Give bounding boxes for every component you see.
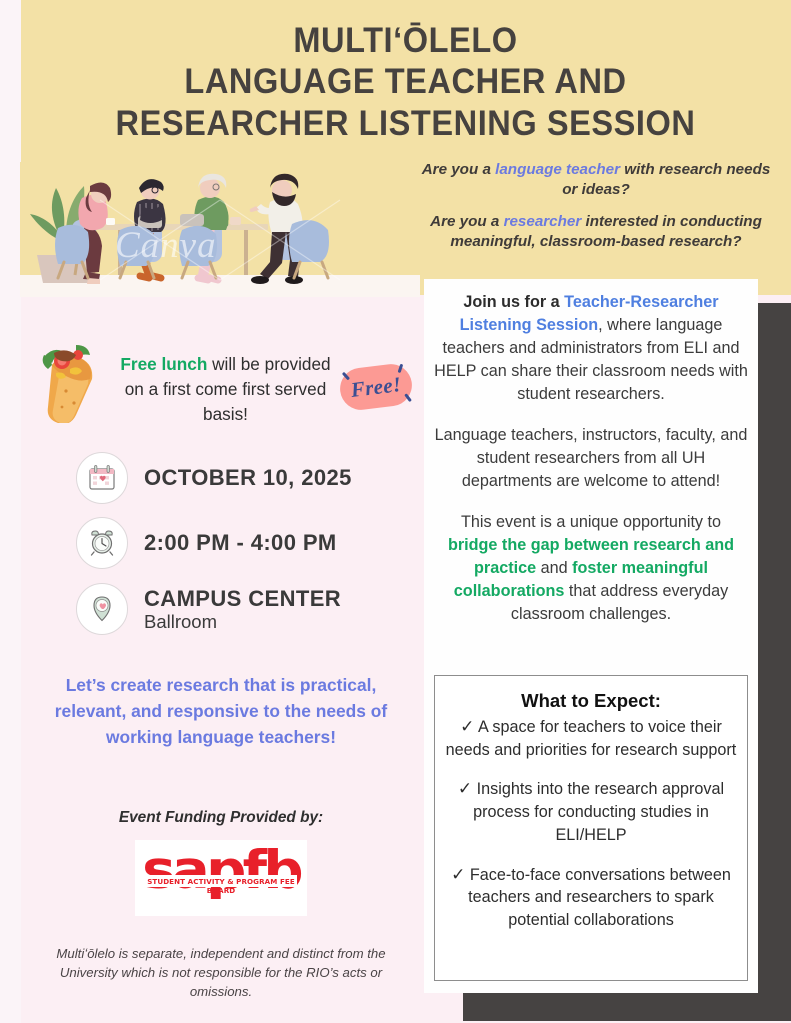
- panel-p3-pre: This event is a unique opportunity to: [461, 513, 721, 531]
- title-line-1: MULTIʻŌLELO: [47, 20, 764, 61]
- expect-item: ✓ Insights into the research approval pr…: [444, 777, 738, 846]
- detail-location-main: CAMPUS CENTER: [144, 586, 341, 612]
- free-badge: Free!: [338, 362, 415, 412]
- title-line-3: RESEARCHER LISTENING SESSION: [47, 103, 764, 144]
- alarm-clock-icon: [76, 517, 128, 569]
- panel-paragraph-3: This event is a unique opportunity to br…: [434, 511, 748, 626]
- disclaimer-text: Multiʻōlelo is separate, independent and…: [35, 944, 407, 1001]
- detail-location-sub: Ballroom: [144, 612, 341, 633]
- free-lunch-text: Free lunch will be provided on a first c…: [118, 352, 333, 427]
- panel-paragraph-2: Language teachers, instructors, faculty,…: [434, 424, 748, 493]
- question-1-pre: Are you a: [422, 161, 495, 178]
- panel-p3-mid: and: [536, 559, 572, 577]
- alarm-clock-icon-svg: [87, 528, 117, 558]
- sapfb-logo-subtitle: STUDENT ACTIVITY & PROGRAM FEE BOARD: [135, 877, 307, 895]
- check-icon: ✓: [460, 717, 474, 736]
- page-title: MULTIʻŌLELO LANGUAGE TEACHER AND RESEARC…: [47, 20, 764, 144]
- panel-paragraph-1: Join us for a Teacher-Researcher Listeni…: [434, 291, 748, 406]
- free-badge-label: Free!: [338, 362, 415, 412]
- info-panel: Join us for a Teacher-Researcher Listeni…: [424, 279, 758, 993]
- left-margin-strip: [0, 0, 21, 1023]
- what-to-expect-box: What to Expect: ✓ A space for teachers t…: [434, 675, 748, 981]
- poster-canvas: MULTIʻŌLELO LANGUAGE TEACHER AND RESEARC…: [0, 0, 791, 1023]
- expect-item: ✓ Face-to-face conversations between tea…: [444, 863, 738, 932]
- free-lunch-highlight: Free lunch: [120, 354, 207, 374]
- expect-item: ✓ A space for teachers to voice their ne…: [444, 715, 738, 761]
- detail-row-location: CAMPUS CENTER Ballroom: [76, 583, 341, 635]
- audience-questions: Are you a language teacher with research…: [420, 160, 772, 252]
- meeting-illustration-svg: [20, 162, 420, 297]
- burrito-icon: [30, 335, 108, 423]
- detail-row-date: OCTOBER 10, 2025: [76, 452, 352, 504]
- detail-row-time: 2:00 PM - 4:00 PM: [76, 517, 337, 569]
- burrito-icon-svg: [30, 335, 108, 423]
- question-1-highlight: language teacher: [495, 161, 620, 178]
- question-2-pre: Are you a: [430, 213, 503, 230]
- location-pin-icon: [76, 583, 128, 635]
- expect-item-text: Insights into the research approval proc…: [473, 780, 724, 843]
- meeting-illustration: Canva: [20, 162, 420, 297]
- info-panel-body: Join us for a Teacher-Researcher Listeni…: [434, 291, 748, 626]
- title-line-2: LANGUAGE TEACHER AND: [47, 61, 764, 102]
- sapfb-logo: sapfb STUDENT ACTIVITY & PROGRAM FEE BOA…: [135, 840, 307, 916]
- question-2: Are you a researcher interested in condu…: [420, 212, 772, 253]
- slogan-text: Let’s create research that is practical,…: [30, 672, 412, 750]
- detail-date-main: OCTOBER 10, 2025: [144, 465, 352, 491]
- funding-label: Event Funding Provided by:: [30, 809, 412, 827]
- calendar-icon: [76, 452, 128, 504]
- check-icon: ✓: [451, 865, 465, 884]
- detail-time-main: 2:00 PM - 4:00 PM: [144, 530, 337, 556]
- expect-item-text: Face-to-face conversations between teach…: [468, 866, 731, 929]
- question-1: Are you a language teacher with research…: [420, 160, 772, 201]
- calendar-icon-svg: [87, 463, 117, 493]
- panel-p1-pre: Join us for a: [463, 293, 564, 311]
- check-icon: ✓: [458, 779, 472, 798]
- question-2-highlight: researcher: [504, 213, 582, 230]
- what-to-expect-heading: What to Expect:: [444, 688, 738, 714]
- expect-item-text: A space for teachers to voice their need…: [446, 718, 737, 759]
- location-pin-icon-svg: [87, 594, 117, 624]
